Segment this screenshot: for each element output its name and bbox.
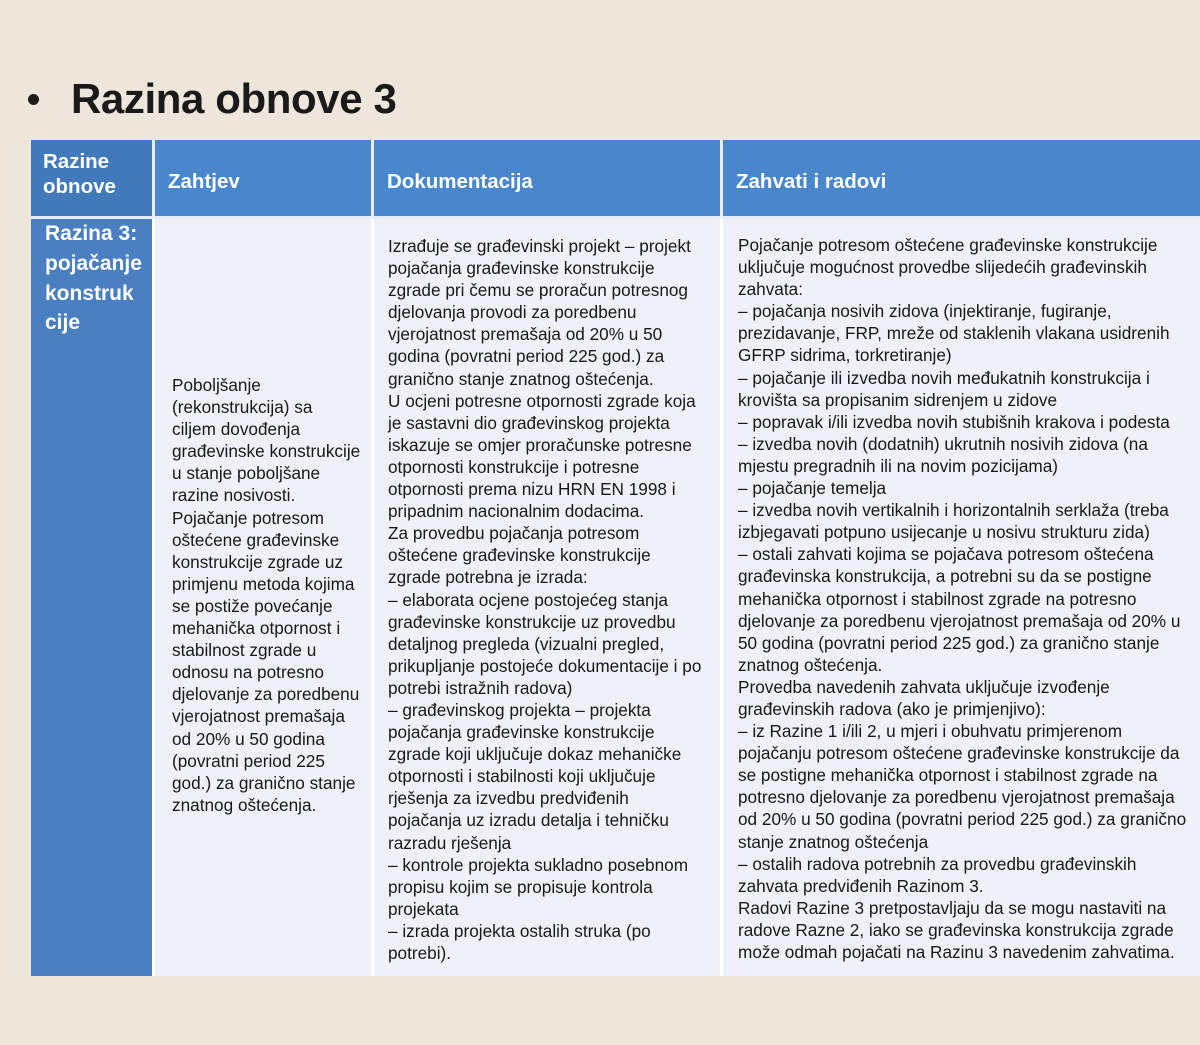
paragraph: Pojačanje potresom oštećene građevinske … xyxy=(172,507,361,816)
paragraph: – elaborata ocjene postojećeg stanja gra… xyxy=(388,589,706,699)
paragraph: U ocjeni potresne otpornosti zgrade koja… xyxy=(388,390,706,523)
paragraph: – pojačanja nosivih zidova (injektiranje… xyxy=(738,300,1190,366)
paragraph: – izvedba novih (dodatnih) ukrutnih nosi… xyxy=(738,433,1190,477)
column-header-zahtjev: Zahtjev xyxy=(155,140,374,219)
zahvati-text: Pojačanje potresom oštećene građevinske … xyxy=(723,219,1200,975)
cell-dokumentacija: Izrađuje se građevinski projekt – projek… xyxy=(374,219,723,976)
page-title: Razina obnove 3 xyxy=(71,78,396,120)
paragraph: – popravak i/ili izvedba novih stubišnih… xyxy=(738,411,1190,433)
paragraph: – građevinskog projekta – projekta pojač… xyxy=(388,699,706,854)
cell-zahtjev: Poboljšanje (rekonstrukcija) sa ciljem d… xyxy=(155,219,374,976)
paragraph: Provedba navedenih zahvata uključuje izv… xyxy=(738,676,1190,720)
paragraph: Za provedbu pojačanja potresom oštećene … xyxy=(388,522,706,588)
paragraph: Izrađuje se građevinski projekt – projek… xyxy=(388,235,706,390)
paragraph: Pojačanje potresom oštećene građevinske … xyxy=(738,234,1190,300)
dokumentacija-text: Izrađuje se građevinski projekt – projek… xyxy=(374,219,720,976)
slide-heading: Razina obnove 3 xyxy=(0,68,1200,130)
paragraph: – ostalih radova potrebnih za provedbu g… xyxy=(738,853,1190,897)
level-label: Razina 3: pojačanje konstrukcije xyxy=(31,219,152,338)
column-header-label: Razine obnove xyxy=(31,140,152,199)
paragraph: – pojačanje temelja xyxy=(738,477,1190,499)
column-header-label: Zahtjev xyxy=(155,140,371,194)
bullet-dot-icon xyxy=(28,94,39,105)
column-header-label: Zahvati i radovi xyxy=(723,140,1200,194)
paragraph: – izvedba novih vertikalnih i horizontal… xyxy=(738,499,1190,543)
paragraph: – iz Razine 1 i/ili 2, u mjeri i obuhvat… xyxy=(738,720,1190,853)
column-header-dokumentacija: Dokumentacija xyxy=(374,140,723,219)
column-header-razine-obnove: Razine obnove xyxy=(31,140,155,219)
paragraph: – pojačanje ili izvedba novih međukatnih… xyxy=(738,367,1190,411)
cell-level-name: Razina 3: pojačanje konstrukcije xyxy=(31,219,155,976)
paragraph: – izrada projekta ostalih struka (po pot… xyxy=(388,920,706,964)
paragraph: Poboljšanje (rekonstrukcija) sa ciljem d… xyxy=(172,374,361,507)
table-header-row: Razine obnove Zahtjev Dokumentacija Zahv… xyxy=(31,140,1200,219)
zahtjev-text: Poboljšanje (rekonstrukcija) sa ciljem d… xyxy=(155,219,371,828)
column-header-label: Dokumentacija xyxy=(374,140,720,194)
cell-zahvati: Pojačanje potresom oštećene građevinske … xyxy=(723,219,1200,976)
paragraph: – kontrole projekta sukladno posebnom pr… xyxy=(388,854,706,920)
table-row: Razina 3: pojačanje konstrukcije Poboljš… xyxy=(31,219,1200,976)
column-header-zahvati-i-radovi: Zahvati i radovi xyxy=(723,140,1200,219)
renovation-levels-table: Razine obnove Zahtjev Dokumentacija Zahv… xyxy=(31,140,1200,976)
paragraph: Radovi Razine 3 pretpostavljaju da se mo… xyxy=(738,897,1190,963)
paragraph: – ostali zahvati kojima se pojačava potr… xyxy=(738,543,1190,676)
